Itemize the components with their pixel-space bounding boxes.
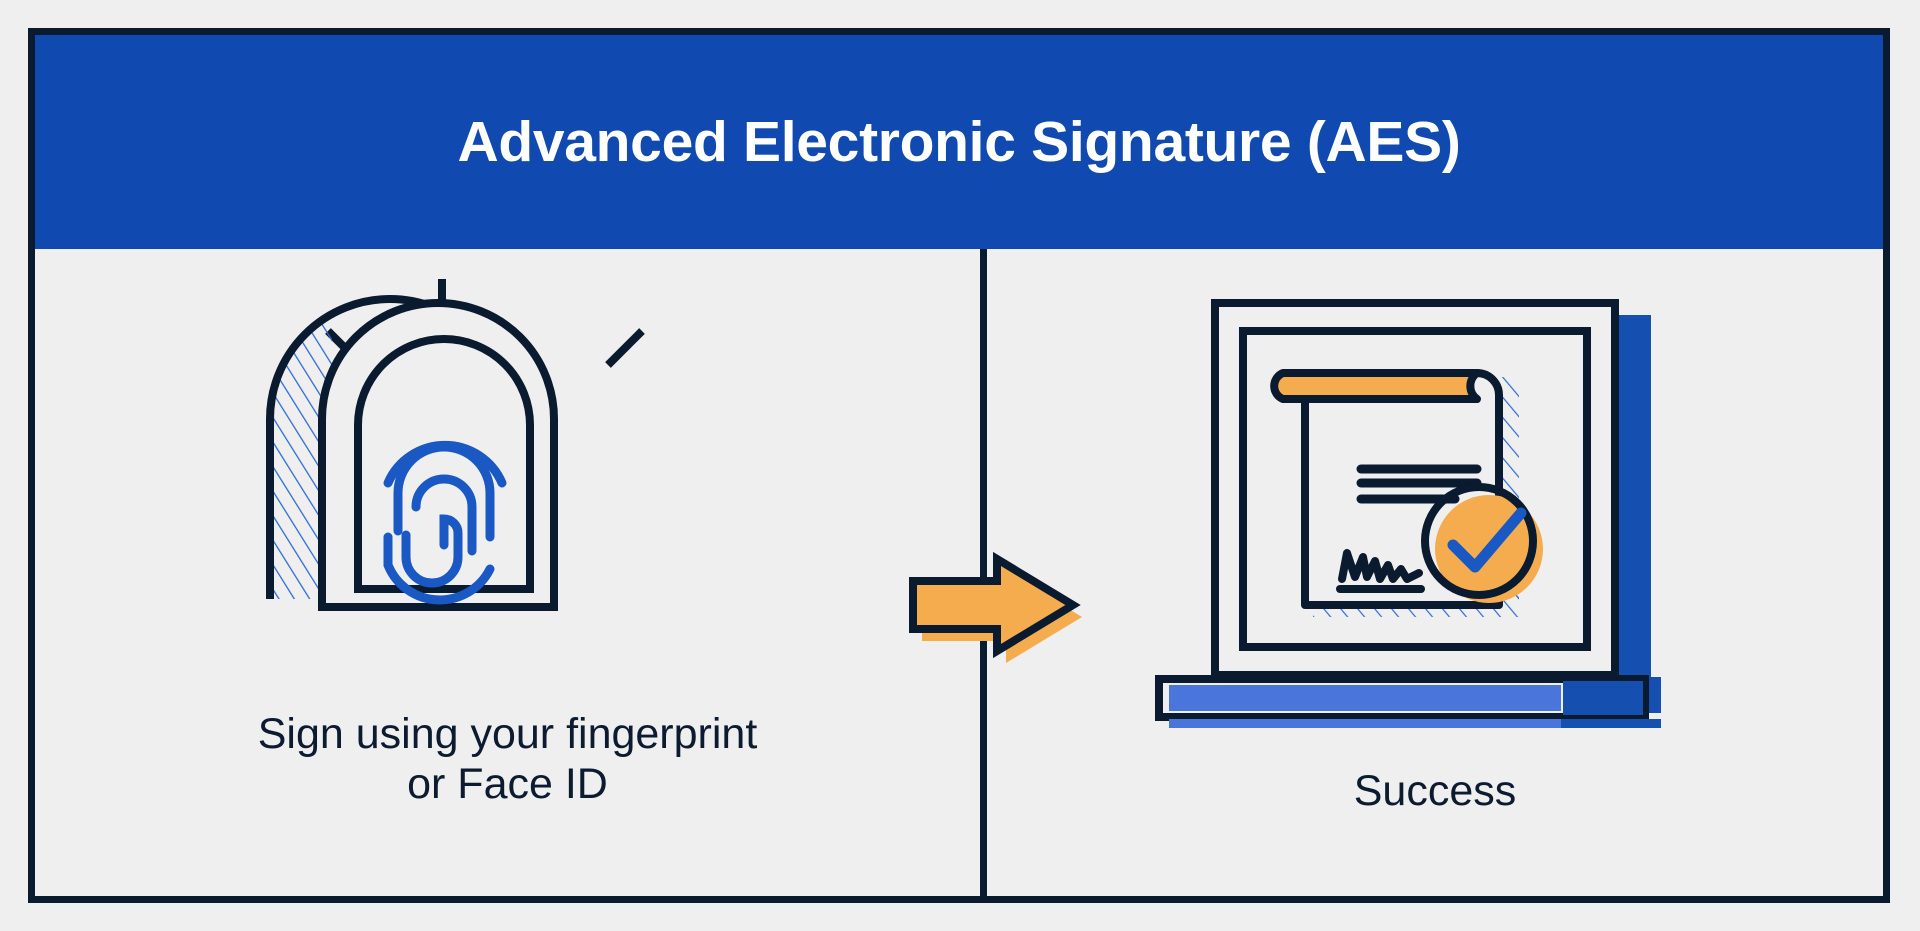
caption-line-1: Sign using your fingerprint xyxy=(35,709,980,759)
caption-line-2: or Face ID xyxy=(35,759,980,809)
caption-success: Success xyxy=(987,766,1883,816)
header-bar: Advanced Electronic Signature (AES) xyxy=(35,35,1883,249)
document-banner xyxy=(1274,373,1477,399)
page-title: Advanced Electronic Signature (AES) xyxy=(457,111,1460,174)
laptop-base-shadow-left xyxy=(1169,719,1561,728)
scan-spark-right xyxy=(608,331,642,365)
body-area: Sign using your fingerprint or Face ID xyxy=(35,249,1883,896)
panel-fingerprint: Sign using your fingerprint or Face ID xyxy=(35,249,980,896)
laptop-signed-document-icon xyxy=(1097,299,1837,739)
laptop-base-front xyxy=(1169,685,1561,711)
aes-infographic-card: Advanced Electronic Signature (AES) xyxy=(28,28,1890,903)
laptop-base-shadow-right xyxy=(1561,719,1661,728)
panel-success: Success xyxy=(987,249,1883,896)
fingerprint-scan-icon xyxy=(210,269,810,699)
right-arrow-icon xyxy=(901,537,1081,657)
caption-fingerprint: Sign using your fingerprint or Face ID xyxy=(35,709,980,810)
laptop-base-right xyxy=(1563,681,1643,715)
